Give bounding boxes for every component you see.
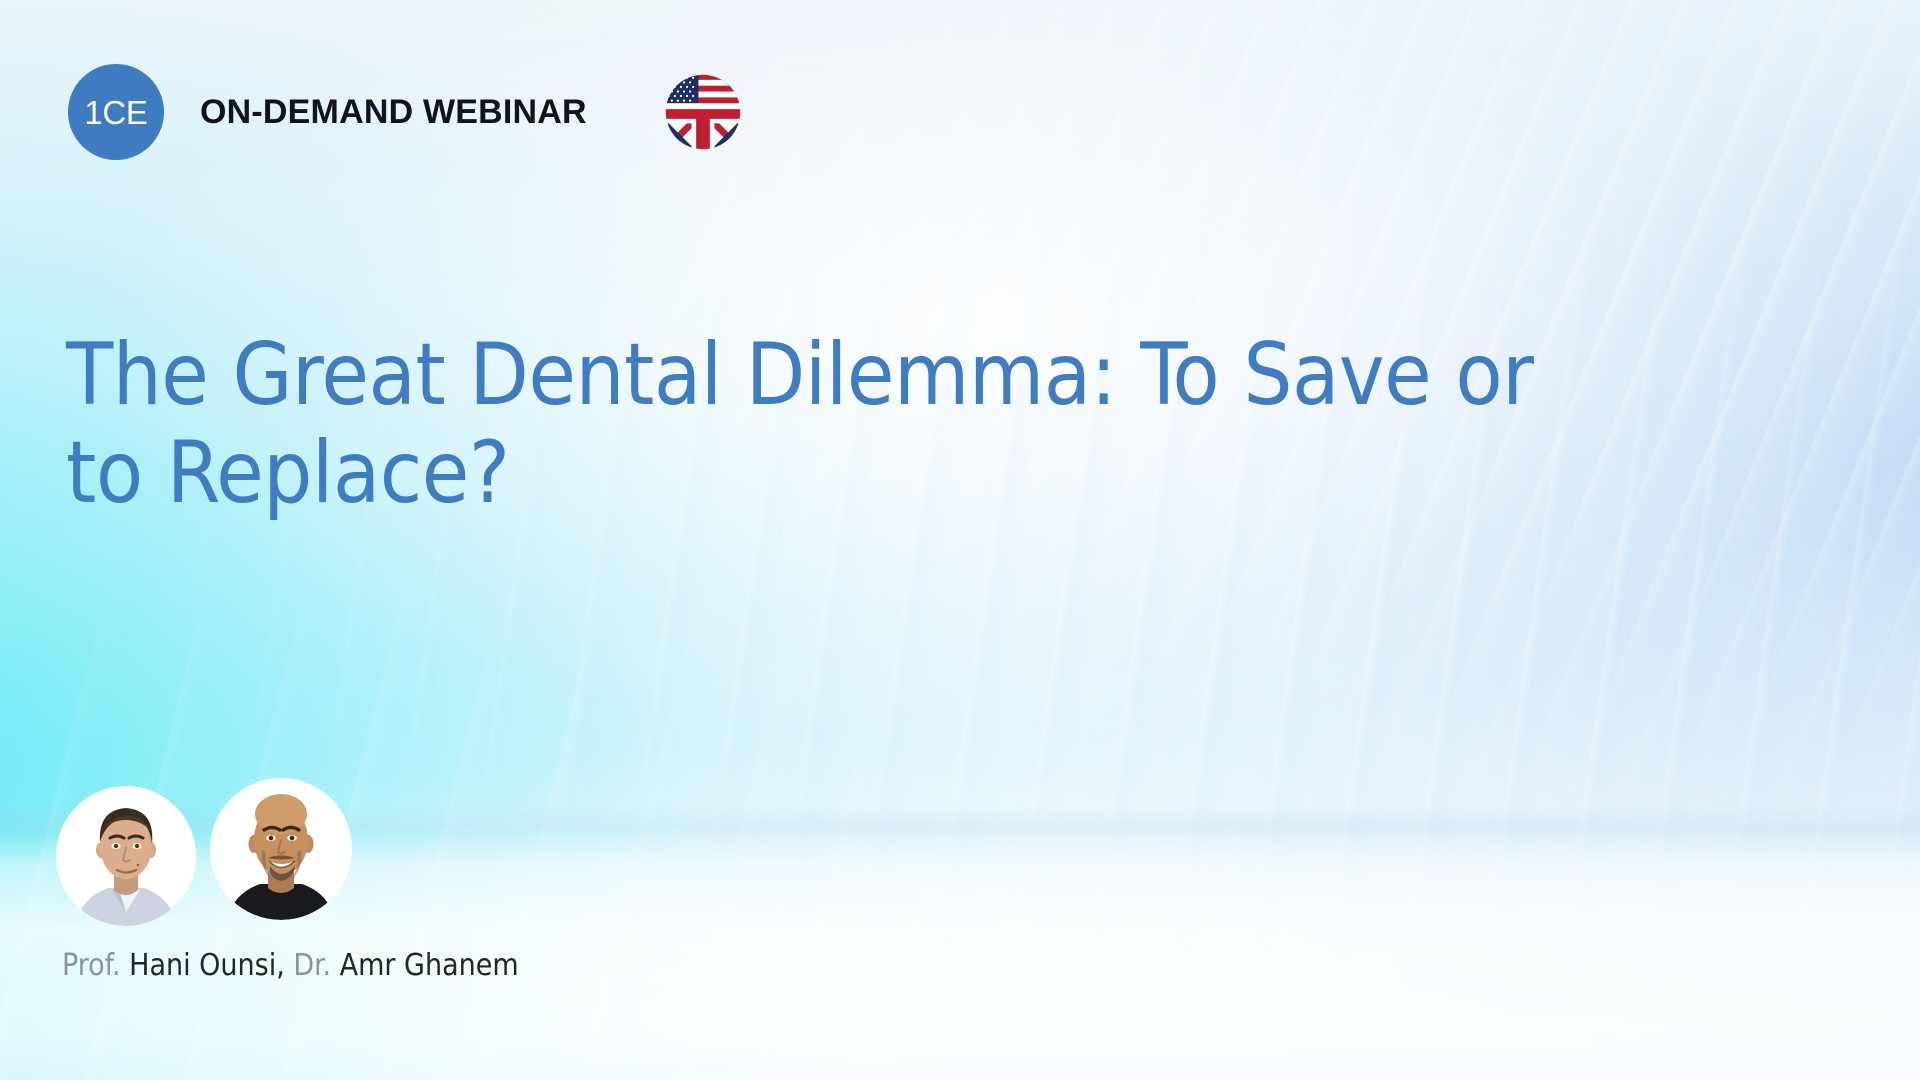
page-title-line-1: The Great Dental Dilemma: To Save or (66, 325, 1533, 425)
speaker-2-honorific: Dr. (293, 948, 331, 983)
page-title-line-2: to Replace? (66, 423, 509, 523)
avatar-portrait-2 (210, 778, 352, 920)
speaker-avatar-hani-ounsi (56, 786, 196, 926)
speaker-avatar-amr-ghanem (210, 778, 352, 920)
page-title: The Great Dental Dilemma: To Save or to … (66, 326, 1546, 522)
header-bar: 1CE ON-DEMAND WEBINAR (68, 64, 741, 160)
ce-credit-badge-label: 1CE (84, 96, 147, 129)
speakers-block: Prof. Hani Ounsi, Dr. Amr Ghanem (56, 786, 519, 983)
webinar-title-slide: 1CE ON-DEMAND WEBINAR (0, 0, 1920, 1080)
speaker-2-name: Amr Ghanem (340, 948, 519, 983)
avatar-portrait-1 (56, 786, 196, 926)
speaker-avatar-row (56, 786, 519, 926)
speaker-1-name: Hani Ounsi, (129, 948, 285, 983)
ce-credit-badge: 1CE (68, 64, 164, 160)
us-uk-flag-icon (665, 74, 741, 150)
webinar-type-label: ON-DEMAND WEBINAR (200, 93, 587, 132)
speaker-1-honorific: Prof. (62, 948, 121, 983)
speaker-credit-line: Prof. Hani Ounsi, Dr. Amr Ghanem (62, 948, 519, 983)
